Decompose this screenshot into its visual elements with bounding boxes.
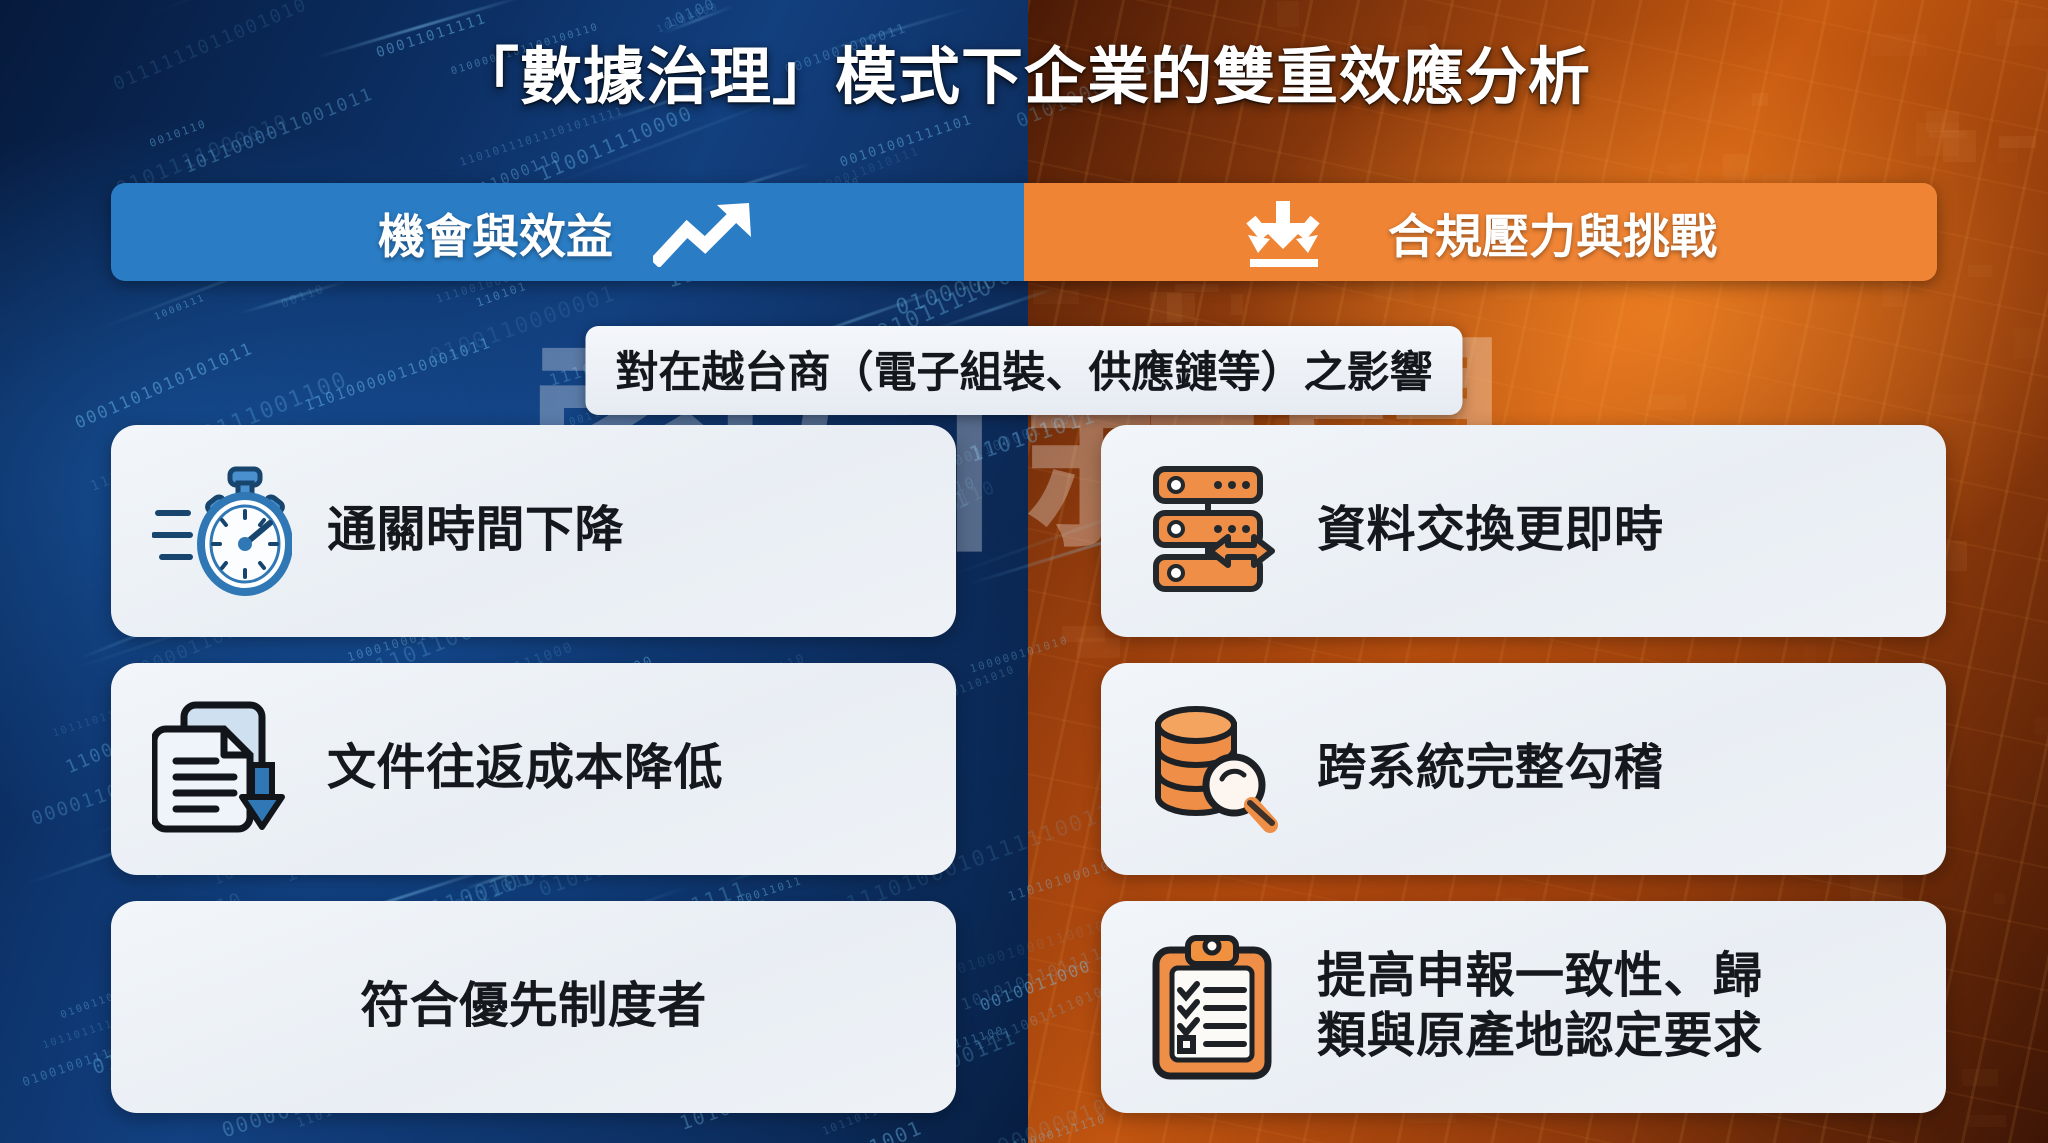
card-label-line2: 類與原產地認定要求 — [1317, 1007, 1763, 1067]
server-exchange-icon — [1137, 461, 1287, 601]
column-compliance: 資料交換更即時 — [1101, 425, 1946, 1139]
card-label: 跨系統完整勾稽 — [1317, 739, 1664, 799]
page-title: 「數據治理」模式下企業的雙重效應分析 — [0, 26, 2048, 116]
header-compliance: 合規壓力與挑戰 — [1024, 183, 1937, 281]
stopwatch-icon — [147, 465, 297, 597]
card-label: 資料交換更即時 — [1317, 501, 1664, 561]
subtitle-pill: 對在越台商（電子組裝、供應鏈等）之影響 — [586, 326, 1463, 415]
clipboard-checklist-icon — [1137, 932, 1287, 1082]
header-right-label: 合規壓力與挑戰 — [1388, 198, 1717, 267]
header-bar: 機會與效益 — [111, 183, 1937, 281]
card-label: 通關時間下降 — [327, 501, 624, 561]
card-document-cost[interactable]: 文件往返成本降低 — [111, 663, 956, 875]
database-search-icon — [1137, 699, 1287, 839]
card-label: 文件往返成本降低 — [327, 739, 723, 799]
card-declaration-consistency[interactable]: 提高申報一致性、歸 類與原產地認定要求 — [1101, 901, 1946, 1113]
trending-up-arrow-icon — [653, 197, 757, 267]
document-download-icon — [147, 699, 297, 839]
card-cross-system-audit[interactable]: 跨系統完整勾稽 — [1101, 663, 1946, 875]
card-label-line1: 提高申報一致性、歸 — [1317, 947, 1763, 1007]
card-data-exchange[interactable]: 資料交換更即時 — [1101, 425, 1946, 637]
card-label: 符合優先制度者 — [360, 977, 707, 1037]
column-opportunities: 通關時間下降 — [111, 425, 956, 1139]
header-left-label: 機會與效益 — [378, 198, 613, 267]
header-opportunities: 機會與效益 — [111, 183, 1024, 281]
card-label: 提高申報一致性、歸 類與原產地認定要求 — [1317, 947, 1763, 1067]
pressure-down-arrows-icon — [1244, 195, 1348, 269]
card-priority-scheme[interactable]: 符合優先制度者 — [111, 901, 956, 1113]
card-customs-time[interactable]: 通關時間下降 — [111, 425, 956, 637]
